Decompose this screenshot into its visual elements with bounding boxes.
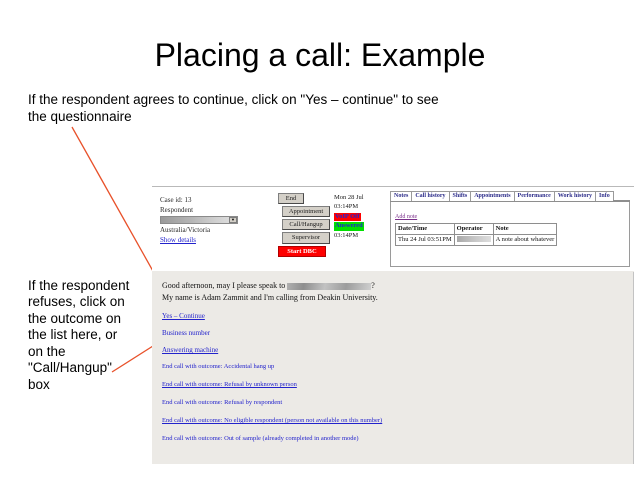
- column-header-note: Note: [493, 224, 557, 235]
- outcome-out-of-sample[interactable]: End call with outcome: Out of sample (al…: [162, 435, 623, 442]
- status-badge-voip: VoIP Off: [334, 213, 361, 221]
- respondent-label: Respondent: [160, 205, 255, 215]
- tab-strip: Notes Call history Shifts Appointments P…: [390, 191, 630, 202]
- outcome-links-secondary: End call with outcome: Accidental hang u…: [162, 363, 623, 442]
- script-line-1: Good afternoon, may I please speak to ?: [162, 280, 623, 292]
- tab-notes[interactable]: Notes: [390, 191, 412, 201]
- redacted-respondent-name: [287, 283, 371, 290]
- start-dbc-button[interactable]: Start DBC: [278, 246, 326, 257]
- status-date: Mon 28 Jul: [334, 193, 382, 202]
- notes-panel: Notes Call history Shifts Appointments P…: [390, 191, 630, 267]
- tab-call-history[interactable]: Call history: [411, 191, 449, 201]
- page-title: Placing a call: Example: [0, 38, 640, 73]
- status-badge-answered: Answered: [334, 222, 364, 230]
- notes-table: Date/Time Operator Note Thu 24 Jul 03:51…: [395, 223, 557, 246]
- script-line-1-prefix: Good afternoon, may I please speak to: [162, 281, 287, 290]
- add-note-link[interactable]: Add note: [395, 214, 417, 220]
- table-header-row: Date/Time Operator Note: [396, 224, 557, 235]
- cell-note: A note about whatever: [493, 234, 557, 245]
- case-info-block: Case id: 13 Respondent ▼ Australia/Victo…: [160, 195, 255, 246]
- outcome-answering-machine[interactable]: Answering machine: [162, 346, 623, 354]
- case-id-label: Case id: 13: [160, 195, 255, 205]
- call-status-column: Mon 28 Jul 03:14PM VoIP Off Answered 03:…: [334, 193, 382, 240]
- script-line-2: My name is Adam Zammit and I'm calling f…: [162, 292, 623, 304]
- chevron-down-icon[interactable]: ▼: [229, 217, 237, 223]
- outcome-refusal-unknown-person[interactable]: End call with outcome: Refusal by unknow…: [162, 381, 623, 388]
- script-line-1-suffix: ?: [371, 281, 375, 290]
- cell-datetime: Thu 24 Jul 03:51PM: [396, 234, 455, 245]
- callout-text-top: If the respondent agrees to continue, cl…: [28, 92, 458, 126]
- status-time-bottom: 03:14PM: [334, 231, 382, 240]
- outcome-business-number[interactable]: Business number: [162, 329, 623, 337]
- tab-performance[interactable]: Performance: [514, 191, 555, 201]
- embedded-app-screenshot: Case id: 13 Respondent ▼ Australia/Victo…: [152, 186, 634, 464]
- respondent-select[interactable]: ▼: [160, 216, 238, 224]
- cell-operator: [454, 234, 493, 245]
- tab-shifts[interactable]: Shifts: [449, 191, 472, 201]
- outcome-links-primary: Yes – Continue Business number Answering…: [162, 312, 623, 354]
- outcome-no-eligible-respondent[interactable]: End call with outcome: No eligible respo…: [162, 417, 623, 424]
- column-header-operator: Operator: [454, 224, 493, 235]
- status-time-top: 03:14PM: [334, 202, 382, 211]
- tab-work-history[interactable]: Work history: [554, 191, 596, 201]
- app-toolbar-band: Case id: 13 Respondent ▼ Australia/Victo…: [152, 186, 634, 271]
- appointment-button[interactable]: Appointment: [282, 206, 330, 217]
- outcome-accidental-hangup[interactable]: End call with outcome: Accidental hang u…: [162, 363, 623, 370]
- dialogue-outcome-area: Good afternoon, may I please speak to ? …: [152, 272, 634, 464]
- notes-body: Add note Date/Time Operator Note Thu 24 …: [390, 202, 630, 267]
- region-label: Australia/Victoria: [160, 225, 255, 235]
- show-details-link[interactable]: Show details: [160, 235, 196, 245]
- tab-strip-filler: [613, 200, 630, 201]
- call-hangup-button[interactable]: Call/Hangup: [282, 219, 330, 230]
- table-row[interactable]: Thu 24 Jul 03:51PM A note about whatever: [396, 234, 557, 245]
- call-control-buttons: End Appointment Call/Hangup Supervisor S…: [278, 193, 328, 259]
- tab-appointments[interactable]: Appointments: [470, 191, 514, 201]
- end-button[interactable]: End: [278, 193, 304, 204]
- supervisor-button[interactable]: Supervisor: [282, 232, 330, 243]
- column-header-datetime: Date/Time: [396, 224, 455, 235]
- outcome-refusal-respondent[interactable]: End call with outcome: Refusal by respon…: [162, 399, 623, 406]
- outcome-yes-continue[interactable]: Yes – Continue: [162, 312, 623, 320]
- redacted-operator: [457, 236, 491, 242]
- callout-text-left: If the respondent refuses, click on the …: [28, 278, 132, 393]
- tab-info[interactable]: Info: [595, 191, 614, 201]
